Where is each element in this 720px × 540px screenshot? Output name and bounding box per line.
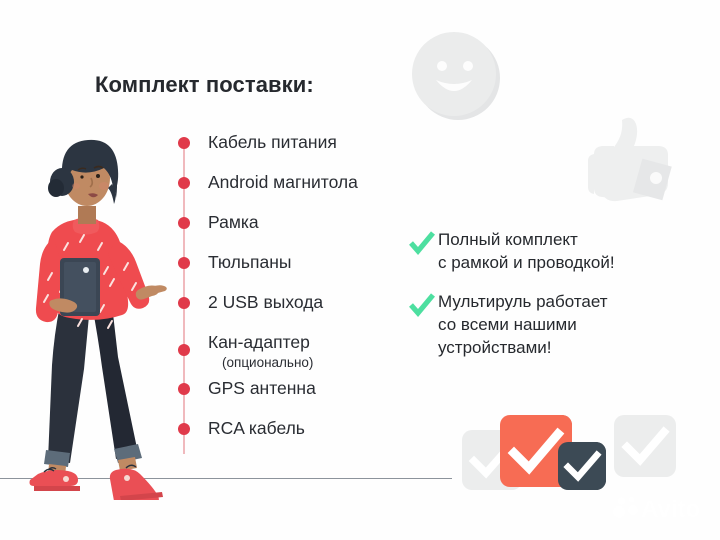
list-item-label: Кабель питания: [208, 130, 337, 154]
smiley-face-icon: [408, 28, 504, 124]
list-item-label: Рамка: [208, 210, 259, 234]
bullet-dot-icon: [178, 344, 190, 356]
bullet-dot-icon: [178, 137, 190, 149]
list-item: Тюльпаны: [178, 250, 428, 290]
checkbox-card-gray-right: [614, 415, 676, 477]
highlight-item: Мультируль работает со всеми нашими устр…: [408, 290, 698, 359]
list-item-label: Тюльпаны: [208, 250, 291, 274]
list-item-label: Android магнитола: [208, 170, 358, 194]
list-item-label: GPS антенна: [208, 376, 316, 400]
list-item-label: RCA кабель: [208, 416, 305, 440]
list-item: Android магнитола: [178, 170, 428, 210]
avito-watermark: Avito: [612, 492, 708, 522]
list-item: Кан-адаптер (опционально): [178, 330, 428, 376]
checkbox-cards-icon: [462, 412, 672, 498]
list-item-label: Кан-адаптер: [208, 330, 313, 354]
highlight-list: Полный комплект с рамкой и проводкой! Му…: [408, 228, 698, 375]
list-item-sublabel: (опционально): [222, 354, 313, 371]
avito-wordmark: Avito: [641, 496, 700, 522]
list-item: Рамка: [178, 210, 428, 250]
bullet-dot-icon: [178, 423, 190, 435]
bullet-dot-icon: [178, 177, 190, 189]
bullet-dot-icon: [178, 217, 190, 229]
checkbox-card-dark: [558, 442, 606, 490]
thumbs-up-icon: [578, 110, 682, 216]
check-icon: [408, 229, 436, 257]
check-icon: [408, 291, 436, 319]
list-item: RCA кабель: [178, 416, 428, 456]
list-item: GPS антенна: [178, 376, 428, 416]
page-title: Комплект поставки:: [95, 72, 314, 98]
highlight-text: Полный комплект с рамкой и проводкой!: [438, 228, 615, 274]
spec-list: Кабель питания Android магнитола Рамка Т…: [178, 130, 428, 456]
list-item: 2 USB выхода: [178, 290, 428, 330]
person-illustration: [8, 110, 178, 500]
highlight-item: Полный комплект с рамкой и проводкой!: [408, 228, 698, 274]
list-item-label: 2 USB выхода: [208, 290, 323, 314]
bullet-dot-icon: [178, 257, 190, 269]
highlight-text: Мультируль работает со всеми нашими устр…: [438, 290, 608, 359]
bullet-dot-icon: [178, 297, 190, 309]
poster-canvas: Комплект поставки: Кабель питания Androi…: [0, 0, 720, 540]
list-item: Кабель питания: [178, 130, 428, 170]
bullet-dot-icon: [178, 383, 190, 395]
